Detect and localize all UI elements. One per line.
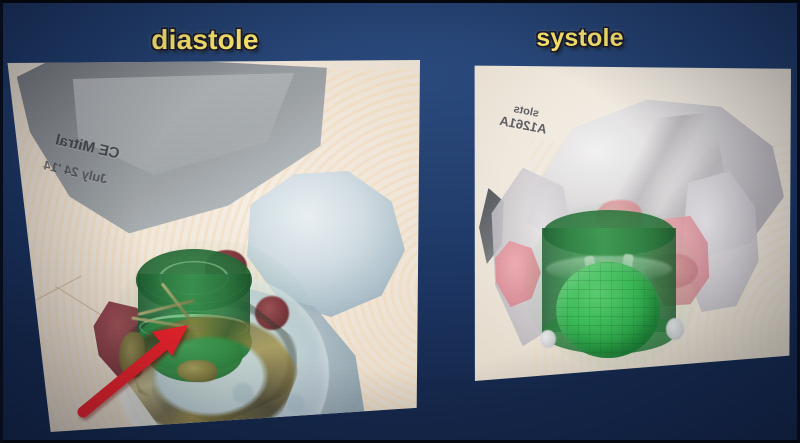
systole-anatomy-layer: slots A1261A	[473, 64, 791, 381]
systole-title: systole	[470, 24, 690, 53]
pencil-mark-left-b	[55, 286, 101, 315]
right-small-nodule-a	[666, 318, 684, 340]
left-calcification-deposit-b	[119, 332, 145, 378]
right-small-nodule-b	[540, 330, 556, 348]
right-prosthesis-occluder-mesh	[556, 262, 660, 358]
diastole-image-panel: CE Mitral July 24 '14	[5, 60, 420, 432]
left-calcification-deposit-a	[177, 360, 217, 382]
slide-photo-frame: CE Mitral July 24 '14	[0, 0, 800, 443]
right-engraved-label-line2: A1261A	[498, 113, 548, 137]
diastole-title: diastole	[0, 24, 410, 56]
